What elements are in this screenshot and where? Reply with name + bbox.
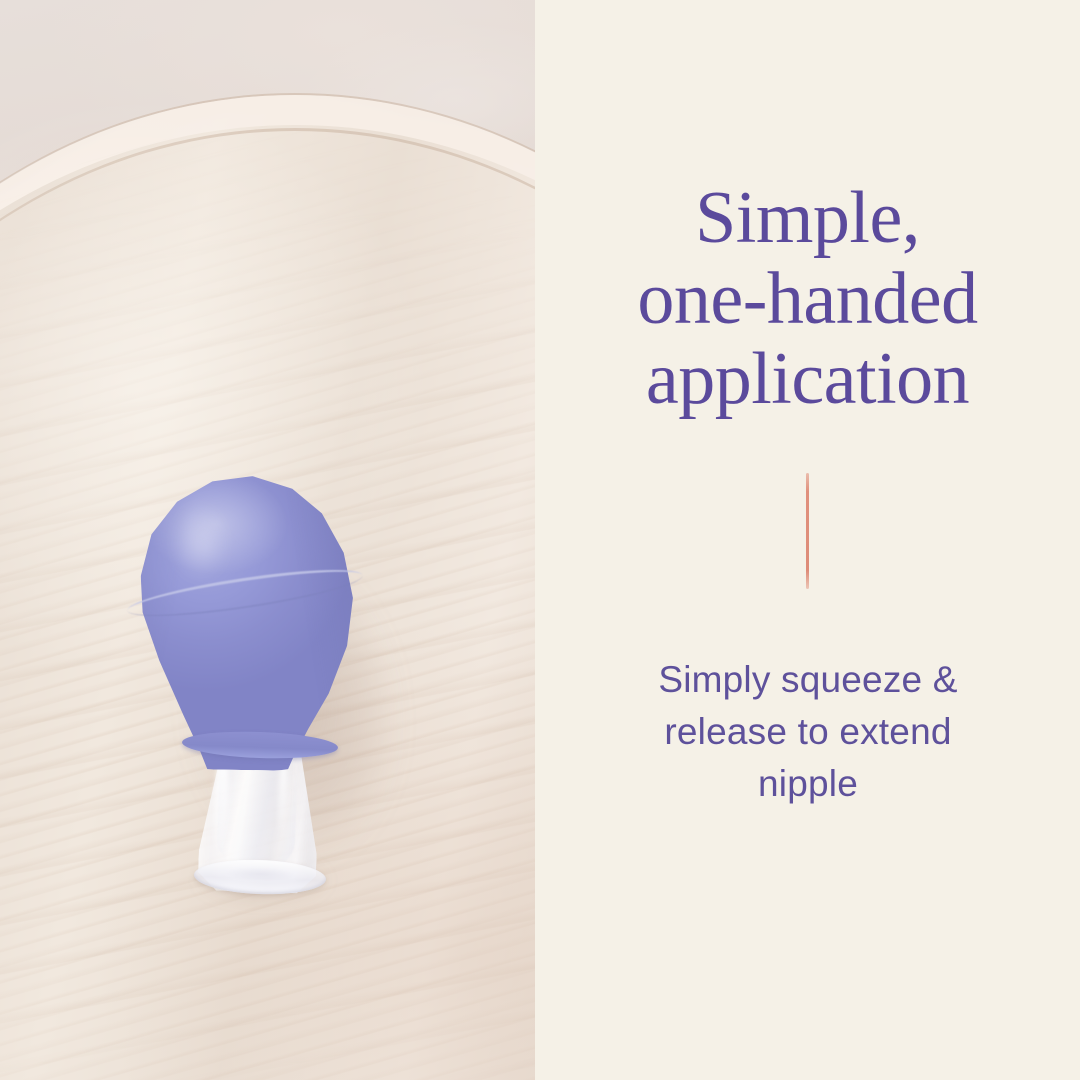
- subcopy: Simply squeeze & release to extend nippl…: [573, 654, 1043, 810]
- nipple-everter-product: [118, 470, 398, 920]
- product-photo: [0, 0, 535, 1080]
- text-panel: Simple, one-handed application Simply sq…: [535, 0, 1080, 1080]
- divider-rule: [806, 473, 809, 589]
- headline: Simple, one-handed application: [535, 178, 1080, 420]
- marketing-image: Simple, one-handed application Simply sq…: [0, 0, 1080, 1080]
